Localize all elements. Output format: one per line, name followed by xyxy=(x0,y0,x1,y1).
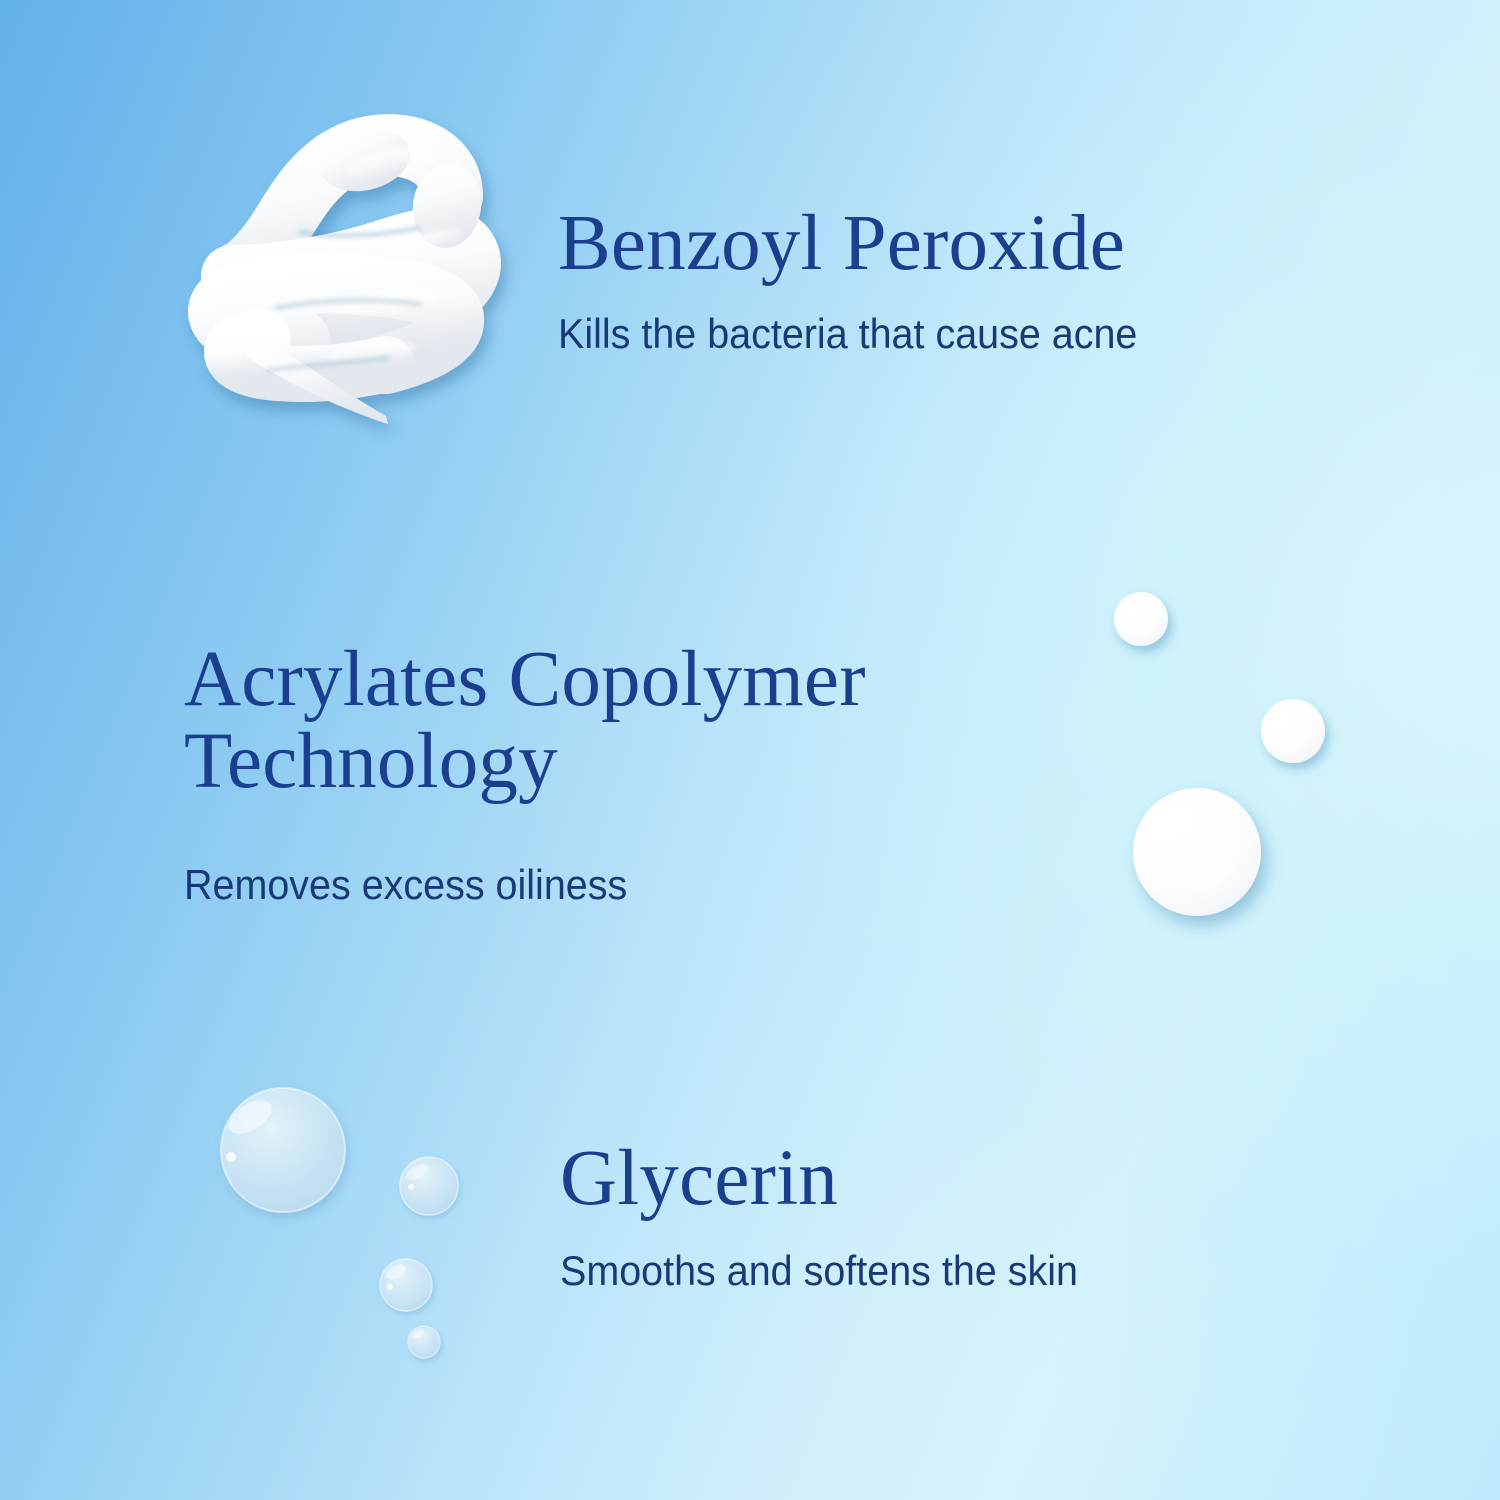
ingredient-name-benzoyl-peroxide: Benzoyl Peroxide xyxy=(558,203,1174,285)
ingredient-block-acrylates-copolymer-technology: Acrylates Copolymer Technology Removes e… xyxy=(184,639,866,911)
ingredient-benefit-acrylates-copolymer-technology: Removes excess oiliness xyxy=(184,860,825,910)
ingredient-name-glycerin: Glycerin xyxy=(560,1138,1111,1220)
ingredient-benefit-benzoyl-peroxide: Kills the bacteria that cause acne xyxy=(558,309,1137,359)
ingredient-block-glycerin: Glycerin Smooths and softens the skin xyxy=(560,1138,1111,1297)
ingredient-block-benzoyl-peroxide: Benzoyl Peroxide Kills the bacteria that… xyxy=(558,203,1174,360)
ingredient-benefits-infographic: Benzoyl Peroxide Kills the bacteria that… xyxy=(0,0,1500,1500)
ingredient-name-acrylates-copolymer-technology: Acrylates Copolymer Technology xyxy=(184,639,866,803)
ingredient-benefit-glycerin: Smooths and softens the skin xyxy=(560,1246,1078,1296)
